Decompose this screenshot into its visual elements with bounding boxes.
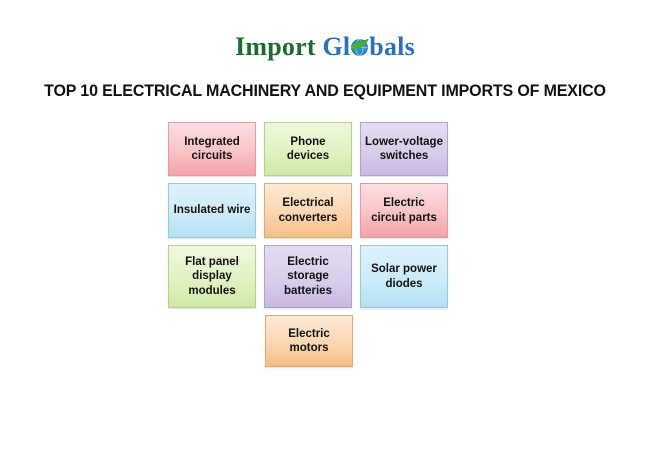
category-box-solar-power-diodes[interactable]: Solar power diodes: [360, 245, 448, 308]
product-category-grid: Integrated circuits Phone devices Lower-…: [168, 122, 450, 374]
category-box-label: Electric motors: [270, 327, 348, 356]
category-box-label: Integrated circuits: [173, 135, 251, 164]
category-box-electric-circuit-parts[interactable]: Electric circuit parts: [360, 183, 448, 238]
grid-row: Flat panel display modules Electric stor…: [168, 245, 450, 308]
category-box-label: Lower-voltage switches: [365, 135, 443, 164]
category-box-label: Flat panel display modules: [173, 255, 251, 298]
category-box-label: Electrical converters: [269, 196, 347, 225]
category-box-lower-voltage-switches[interactable]: Lower-voltage switches: [360, 122, 448, 176]
brand-logo-word-gl: Gl: [322, 32, 350, 61]
category-box-flat-panel-display-modules[interactable]: Flat panel display modules: [168, 245, 256, 308]
category-box-phone-devices[interactable]: Phone devices: [264, 122, 352, 176]
category-box-insulated-wire[interactable]: Insulated wire: [168, 183, 256, 238]
category-box-label: Electric storage batteries: [269, 255, 347, 298]
grid-row: Insulated wire Electrical converters Ele…: [168, 183, 450, 238]
category-box-electric-motors[interactable]: Electric motors: [265, 315, 353, 367]
grid-row: Integrated circuits Phone devices Lower-…: [168, 122, 450, 176]
brand-logo-word-import: Import: [235, 32, 316, 61]
category-box-electric-storage-batteries[interactable]: Electric storage batteries: [264, 245, 352, 308]
brand-logo: Import Gl bals: [0, 34, 650, 60]
category-box-label: Phone devices: [269, 135, 347, 164]
grid-row: Electric motors: [168, 315, 450, 367]
category-box-label: Insulated wire: [174, 203, 251, 217]
globe-icon: [349, 37, 370, 58]
category-box-label: Electric circuit parts: [365, 196, 443, 225]
page-title: TOP 10 ELECTRICAL MACHINERY AND EQUIPMEN…: [10, 82, 641, 101]
category-box-label: Solar power diodes: [365, 262, 443, 291]
brand-logo-word-bals: bals: [369, 32, 415, 61]
brand-logo-text: Import Gl bals: [235, 34, 415, 60]
category-box-integrated-circuits[interactable]: Integrated circuits: [168, 122, 256, 176]
category-box-electrical-converters[interactable]: Electrical converters: [264, 183, 352, 238]
